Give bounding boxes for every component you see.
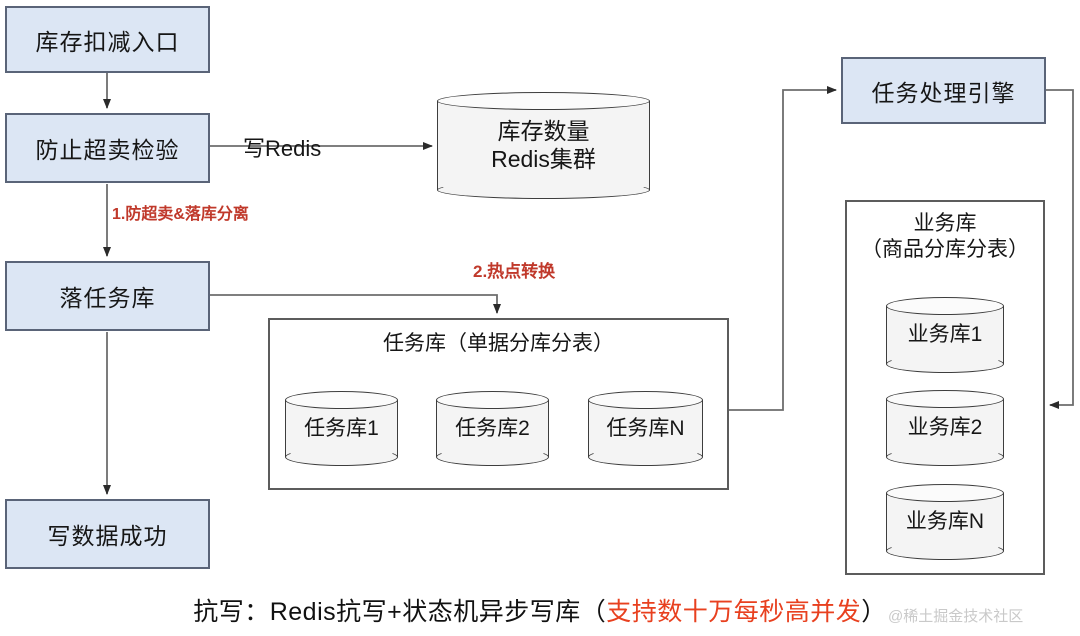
datastore-task-db-1[interactable]: 任务库1 [285,391,398,466]
datastore-task-db-n[interactable]: 任务库N [588,391,703,466]
datastore-redis-cluster[interactable]: 库存数量 Redis集群 [437,92,650,199]
datastore-business-db-2[interactable]: 业务库2 [886,390,1004,466]
node-label: 防止超卖检验 [36,131,180,165]
node-task-processing-engine[interactable]: 任务处理引擎 [841,57,1046,124]
group-business-db-title-line2: （商品分库分表） [847,238,1043,263]
redis-line-2: Redis集群 [491,146,596,174]
edge-label-step-2: 2.热点转换 [473,257,555,282]
datastore-label: 任务库1 [285,391,398,466]
node-write-data-success[interactable]: 写数据成功 [5,499,210,569]
edge-label-step-1: 1.防超卖&落库分离 [112,200,249,224]
edge-taskgroup-to-engine [729,90,836,410]
node-inventory-deduct-entry[interactable]: 库存扣减入口 [5,6,210,73]
node-label: 落任务库 [60,279,156,313]
datastore-label: 业务库1 [886,297,1004,373]
node-oversell-check[interactable]: 防止超卖检验 [5,113,210,183]
diagram-canvas: 库存扣减入口 防止超卖检验 落任务库 写数据成功 任务处理引擎 库存数量 Red… [0,0,1080,636]
caption-prefix: 抗写：Redis抗写+状态机异步写库（ [193,598,606,626]
datastore-business-db-1[interactable]: 业务库1 [886,297,1004,373]
node-drop-task-db[interactable]: 落任务库 [5,261,210,331]
node-label: 库存扣减入口 [36,23,180,57]
group-business-db-title-line1: 业务库 [847,212,1043,237]
caption-highlight: 支持数十万每秒高并发 [606,598,861,626]
datastore-label: 库存数量 Redis集群 [437,92,650,199]
datastore-label: 任务库N [588,391,703,466]
datastore-label: 任务库2 [436,391,549,466]
node-label: 写数据成功 [48,517,168,551]
caption-suffix: ） [861,598,887,626]
redis-line-1: 库存数量 [491,118,596,146]
edge-engine-to-businessgroup [1046,90,1073,405]
group-task-db-title: 任务库（单据分库分表） [270,332,727,357]
datastore-label: 业务库2 [886,390,1004,466]
edge-label-write-redis: 写Redis [243,131,321,163]
datastore-task-db-2[interactable]: 任务库2 [436,391,549,466]
node-label: 任务处理引擎 [872,74,1016,108]
datastore-business-db-n[interactable]: 业务库N [886,484,1004,560]
watermark: @稀土掘金技术社区 [888,605,1023,626]
datastore-label: 业务库N [886,484,1004,560]
edge-drop-to-taskgroup [210,295,497,313]
